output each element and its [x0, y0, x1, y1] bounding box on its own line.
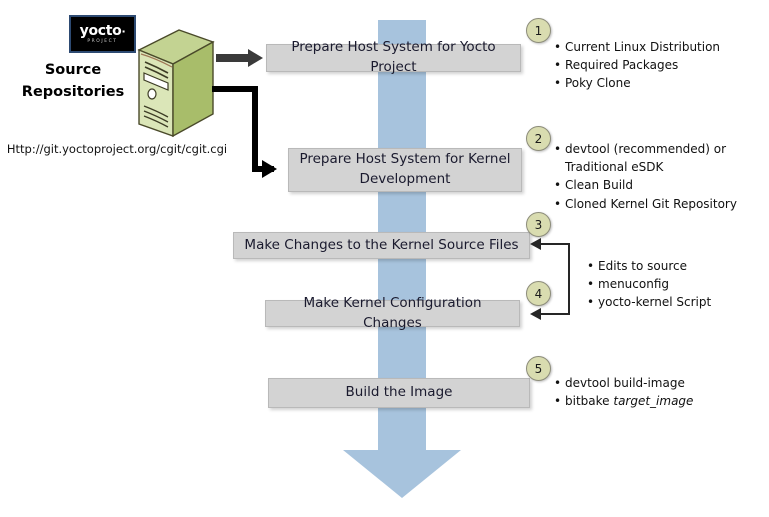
connector-server-to-box2-arrowhead — [262, 160, 277, 178]
note-item: Current Linux Distribution — [565, 38, 764, 56]
process-box-make-kernel-config-changes[interactable]: Make Kernel Configuration Changes — [265, 300, 520, 327]
note-item: devtool build-image — [565, 374, 764, 392]
process-box-build-image[interactable]: Build the Image — [268, 378, 530, 408]
note-item: Clean Build — [565, 176, 764, 194]
note-item: Required Packages — [565, 56, 764, 74]
notes-steps-3-and-4: Edits to source menuconfig yocto-kernel … — [585, 257, 765, 312]
note-bitbake-command: bitbake — [565, 394, 613, 408]
yocto-project-logo: yocto· PROJECT — [69, 15, 136, 53]
notes-step-2: devtool (recommended) or Traditional eSD… — [552, 140, 764, 213]
main-flow-arrow-head — [343, 450, 461, 498]
feedback-arrowhead-to-box4 — [530, 308, 541, 320]
note-bitbake-target: target_image — [613, 394, 693, 408]
process-box-make-kernel-source-changes[interactable]: Make Changes to the Kernel Source Files — [233, 232, 530, 259]
source-repositories-label-line1: Source — [12, 60, 134, 82]
note-item: menuconfig — [598, 275, 765, 293]
step-marker-2: 2 — [526, 126, 551, 151]
diagram-canvas: yocto· PROJECT Source Repositories — [0, 0, 769, 517]
yocto-logo-subtext: PROJECT — [87, 40, 117, 44]
feedback-arrowhead-to-box3 — [530, 238, 541, 250]
step-marker-1: 1 — [526, 18, 551, 43]
note-item: Edits to source — [598, 257, 765, 275]
process-box-prepare-host-yocto[interactable]: Prepare Host System for Yocto Project — [266, 44, 521, 72]
feedback-bracket-vertical — [568, 243, 570, 315]
feedback-bracket-branch-top — [540, 243, 570, 245]
process-box-prepare-host-kernel[interactable]: Prepare Host System for Kernel Developme… — [288, 148, 522, 192]
server-tower-icon — [135, 28, 215, 140]
notes-step-5: devtool build-image bitbake target_image — [552, 374, 764, 410]
note-item: Cloned Kernel Git Repository — [565, 195, 764, 213]
feedback-bracket-branch-bottom — [540, 313, 570, 315]
yocto-logo-wordmark: yocto· — [80, 24, 126, 38]
connector-server-to-box2-vertical — [252, 86, 258, 172]
note-item-bitbake: bitbake target_image — [565, 392, 764, 410]
yocto-logo-text: yocto — [80, 23, 122, 39]
source-repositories-label-line2: Repositories — [12, 82, 134, 104]
note-item: devtool (recommended) or Traditional eSD… — [565, 140, 764, 176]
source-repositories-url: Http://git.yoctoproject.org/cgit/cgit.cg… — [6, 142, 228, 156]
note-item: yocto-kernel Script — [598, 293, 765, 311]
step-marker-5: 5 — [526, 356, 551, 381]
step-marker-3: 3 — [526, 212, 551, 237]
connector-server-to-box1-arrowhead — [248, 49, 263, 67]
notes-step-1: Current Linux Distribution Required Pack… — [552, 38, 764, 93]
source-repositories-label: Source Repositories — [12, 60, 134, 104]
note-item: Poky Clone — [565, 74, 764, 92]
connector-server-to-box1-line — [216, 54, 250, 62]
step-marker-4: 4 — [526, 281, 551, 306]
yocto-logo-dot: · — [121, 25, 125, 38]
